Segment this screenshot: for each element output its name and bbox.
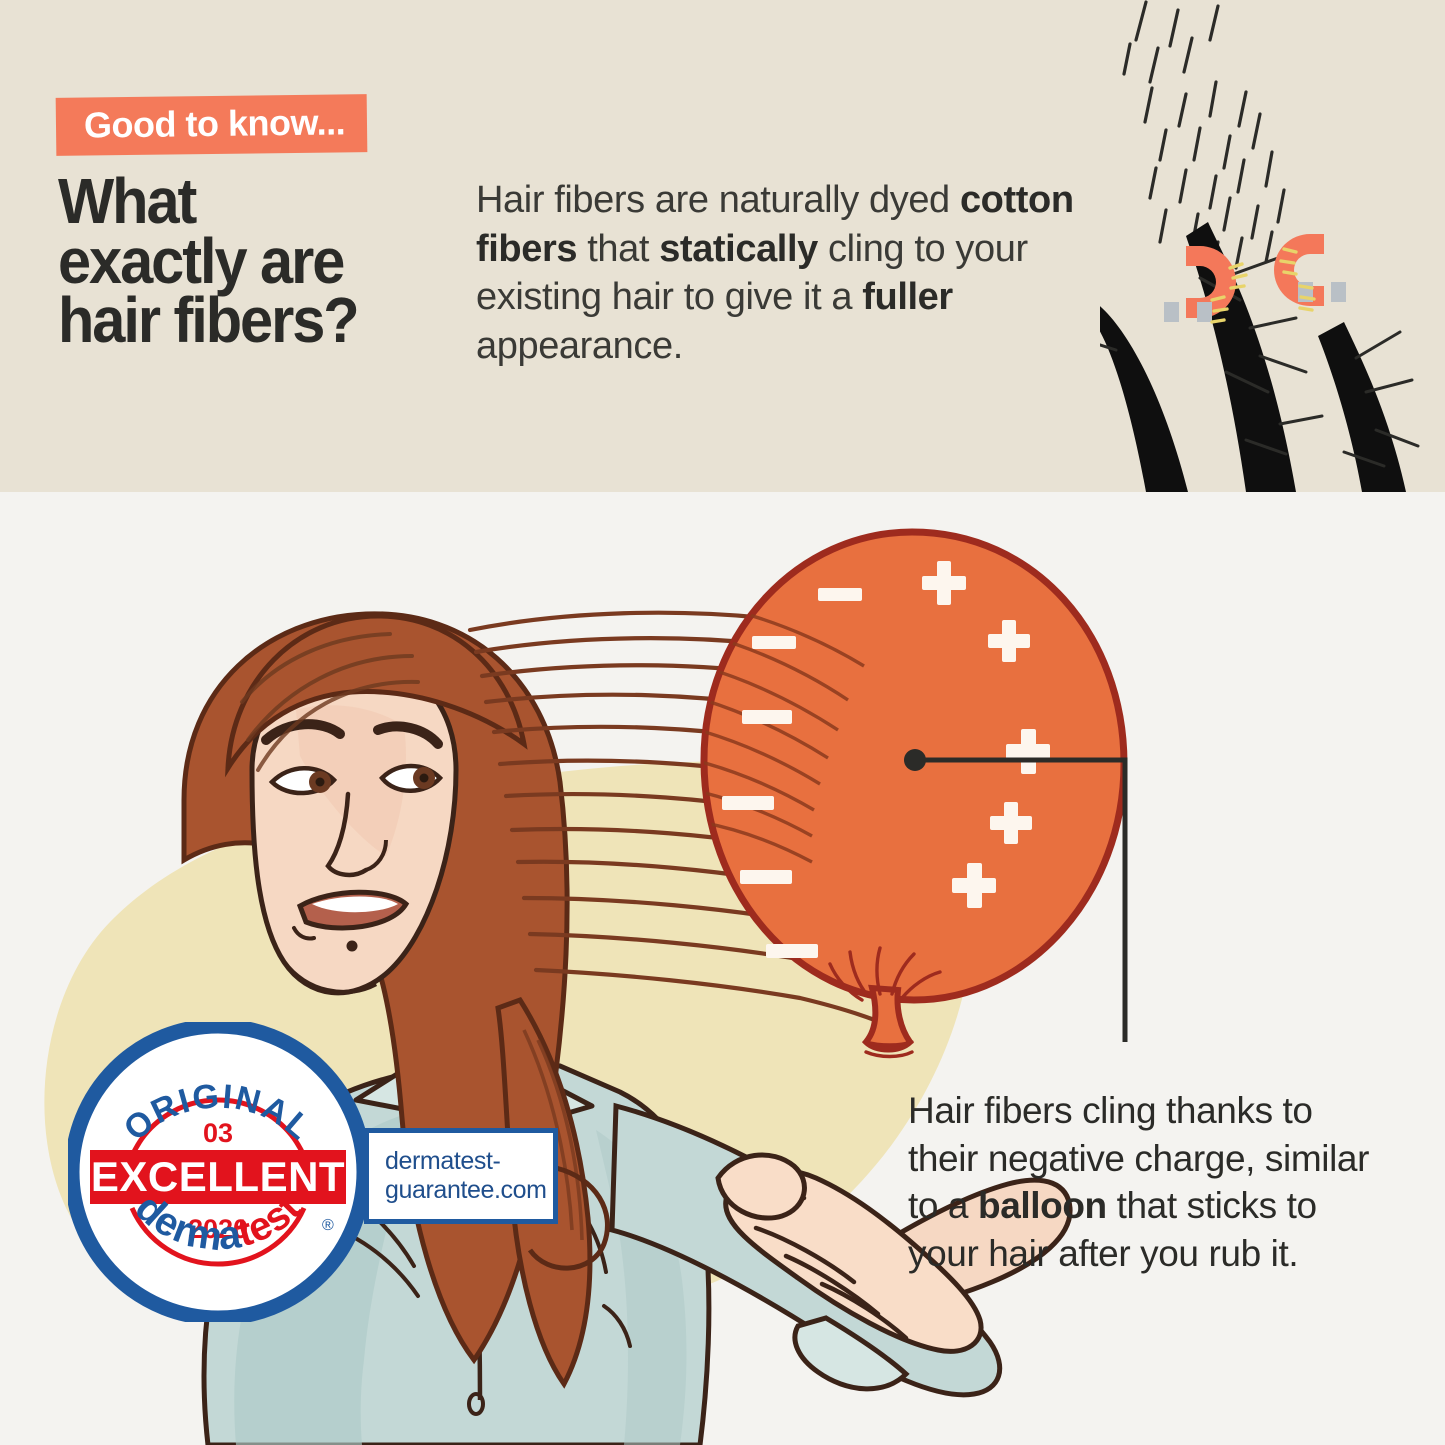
url-line-1: dermatest- [385, 1147, 547, 1177]
seal-rating: EXCELLENT [91, 1153, 345, 1200]
balloon-caption: Hair fibers cling thanks to their negati… [908, 1087, 1378, 1278]
infographic-canvas: Good to know... What exactly are hair fi… [0, 0, 1445, 1445]
url-line-2: guarantee.com [385, 1176, 547, 1206]
seal-registered-mark: ® [322, 1217, 334, 1234]
dermatest-url-box[interactable]: dermatest- guarantee.com [364, 1128, 558, 1224]
dermatest-seal[interactable]: EXCELLENT 03 2020 ORIGINAL dermatest ® [68, 1022, 368, 1322]
emphasis-text: balloon [978, 1185, 1107, 1226]
body-text: that [577, 228, 659, 270]
headline-line-1: What [58, 172, 449, 232]
dermatest-url-text: dermatest- guarantee.com [385, 1147, 547, 1206]
body-text: Hair fibers are naturally dyed [476, 179, 960, 221]
headline-line-2: exactly are [58, 232, 449, 292]
seal-number: 03 [203, 1118, 233, 1148]
horseshoe-magnet-icon [1274, 234, 1346, 310]
callout-leader-line [880, 720, 1180, 1080]
kicker-badge: Good to know... [56, 94, 368, 156]
emphasis-text: statically [659, 228, 818, 270]
